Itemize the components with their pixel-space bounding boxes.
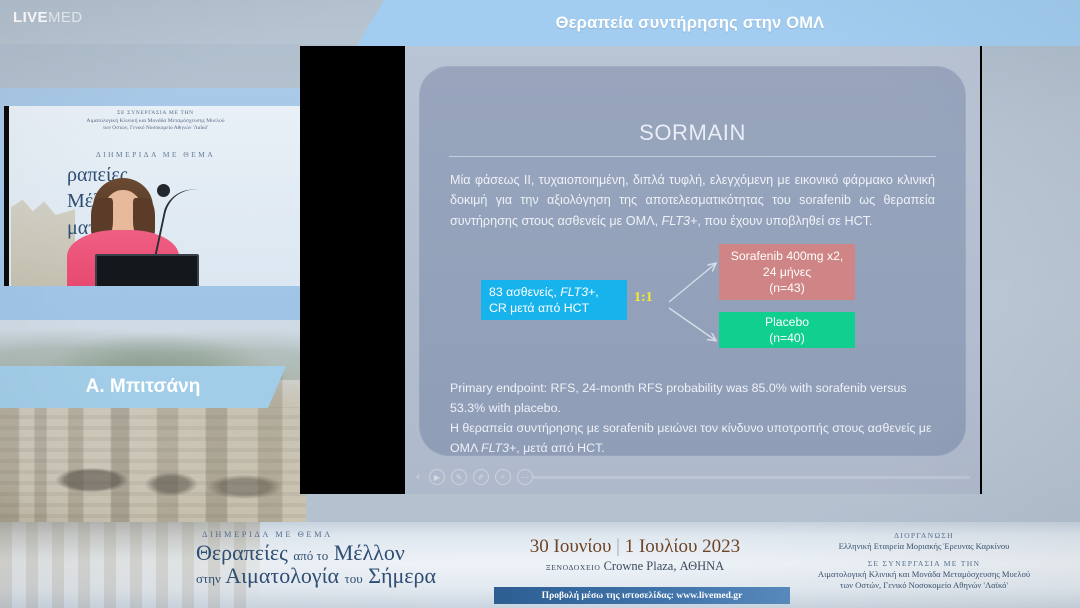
diagram-treatment-arm-box: Sorafenib 400mg x2, 24 μήνες (n=43) <box>719 244 855 300</box>
slide-content-panel: SORMAIN Μία φάσεως II, τυχαιοποιημένη, δ… <box>419 66 966 456</box>
slide-title: SORMAIN <box>419 120 966 146</box>
backdrop-heading: ΔΙΗΜΕΡΙΔΑ ΜΕ ΘΕΜΑ <box>9 150 302 159</box>
banner-date: 30 Ιουνίου | 1 Ιουλίου 2023 <box>500 536 770 558</box>
zoom-icon[interactable]: ⌕ <box>495 469 511 485</box>
banner-organizers: ΔΙΟΡΓΑΝΩΣΗ Ελληνική Εταιρεία Μοριακής Έρ… <box>778 531 1070 591</box>
podium-laptop <box>95 254 199 286</box>
slide-progress-bar[interactable] <box>533 476 970 479</box>
randomization-ratio: 1:1 <box>634 290 653 306</box>
backdrop-credits: ΣΕ ΣΥΝΕΡΓΑΣΙΑ ΜΕ ΤΗΝ Αιματολογική Κλινικ… <box>9 110 302 132</box>
slide-divider <box>449 156 936 157</box>
livemed-logo[interactable]: LIVEMED <box>13 9 83 26</box>
slide-results-text: Primary endpoint: RFS, 24-month RFS prob… <box>450 378 935 458</box>
speaker-name-label: Α. Μπιτσάνη <box>0 366 286 408</box>
backdrop-line2: των Οστών, Γενικό Νοσοκομείο Αθηνών 'Λαϊ… <box>9 125 302 132</box>
slide-surface[interactable]: SORMAIN Μία φάσεως II, τυχαιοποιημένη, δ… <box>405 46 980 494</box>
banner-organizer-label: ΔΙΟΡΓΑΝΩΣΗ <box>778 531 1070 541</box>
diagram-control-arm-box: Placebo (n=40) <box>719 312 855 348</box>
backdrop-title-line1: ραπείες <box>67 162 296 188</box>
presentation-controls[interactable]: ‹ ▶ ✎ ✐ ⌕ ⋯ <box>413 468 533 486</box>
logo-med: MED <box>48 9 83 26</box>
banner-organizer-value: Ελληνική Εταιρεία Μοριακής Έρευνας Καρκί… <box>778 541 1070 552</box>
slide-description: Μία φάσεως II, τυχαιοποιημένη, διπλά τυφ… <box>450 170 935 231</box>
banner-venue: ΞΕΝΟΔΟΧΕΙΟ Crowne Plaza, ΑΘΗΝΑ <box>500 559 770 574</box>
diagram-cohort-text: 83 ασθενείς, FLT3+, CR μετά από HCT <box>489 284 599 316</box>
microphone-head <box>157 184 170 197</box>
previous-slide-icon[interactable]: ‹ <box>413 469 423 485</box>
banner-cooperation-label: ΣΕ ΣΥΝΕΡΓΑΣΙΑ ΜΕ ΤΗΝ <box>778 559 1070 569</box>
randomization-arrows <box>665 246 725 350</box>
banner-title-line2: στην Αιματολογία του Σήμερα <box>196 563 526 589</box>
banner-cooperation-value2: των Οστών, Γενικό Νοσοκομείο Αθηνών 'Λαϊ… <box>778 580 1070 591</box>
banner-organizer-gap <box>778 552 1070 559</box>
logo-live: LIVE <box>13 9 48 26</box>
banner-stream-notice[interactable]: Προβολή μέσω της ιστοσελίδας: www.liveme… <box>494 587 790 604</box>
play-icon[interactable]: ▶ <box>429 469 445 485</box>
pen-icon[interactable]: ✎ <box>451 469 467 485</box>
arrow-to-control <box>669 308 715 340</box>
arrow-to-treatment <box>669 264 715 302</box>
event-banner: ΔΙΗΜΕΡΙΔΑ ΜΕ ΘΕΜΑ Θεραπείες από το Μέλλο… <box>0 522 1080 608</box>
background-ruins-photo <box>0 318 306 540</box>
diagram-cohort-box: 83 ασθενείς, FLT3+, CR μετά από HCT <box>481 280 627 320</box>
banner-event-title: ΔΙΗΜΕΡΙΔΑ ΜΕ ΘΕΜΑ Θεραπείες από το Μέλλο… <box>196 530 526 589</box>
speaker-panel: ΣΕ ΣΥΝΕΡΓΑΣΙΑ ΜΕ ΤΗΝ Αιματολογική Κλινικ… <box>0 88 306 320</box>
highlighter-icon[interactable]: ✐ <box>473 469 489 485</box>
banner-date-venue: 30 Ιουνίου | 1 Ιουλίου 2023 ΞΕΝΟΔΟΧΕΙΟ C… <box>500 536 770 574</box>
speaker-video[interactable]: ΣΕ ΣΥΝΕΡΓΑΣΙΑ ΜΕ ΤΗΝ Αιματολογική Κλινικ… <box>4 106 302 286</box>
banner-kicker: ΔΙΗΜΕΡΙΔΑ ΜΕ ΘΕΜΑ <box>196 530 526 539</box>
more-options-icon[interactable]: ⋯ <box>517 469 533 485</box>
backdrop-line1: Αιματολογική Κλινική και Μονάδα Μεταμόσχ… <box>9 118 302 125</box>
session-title: Θεραπεία συντήρησης στην ΟΜΛ <box>300 0 1080 46</box>
backdrop-kicker: ΣΕ ΣΥΝΕΡΓΑΣΙΑ ΜΕ ΤΗΝ <box>9 110 302 117</box>
diagram-control-arm-text: Placebo (n=40) <box>765 314 809 346</box>
webcast-page: LIVEMED Θεραπεία συντήρησης στην ΟΜΛ ΣΕ … <box>0 0 1080 608</box>
trial-design-diagram: 83 ασθενείς, FLT3+, CR μετά από HCT 1:1 <box>419 244 966 364</box>
banner-cooperation-value1: Αιματολογική Κλινική και Μονάδα Μεταμόσχ… <box>778 569 1070 580</box>
diagram-treatment-arm-text: Sorafenib 400mg x2, 24 μήνες (n=43) <box>731 248 843 296</box>
